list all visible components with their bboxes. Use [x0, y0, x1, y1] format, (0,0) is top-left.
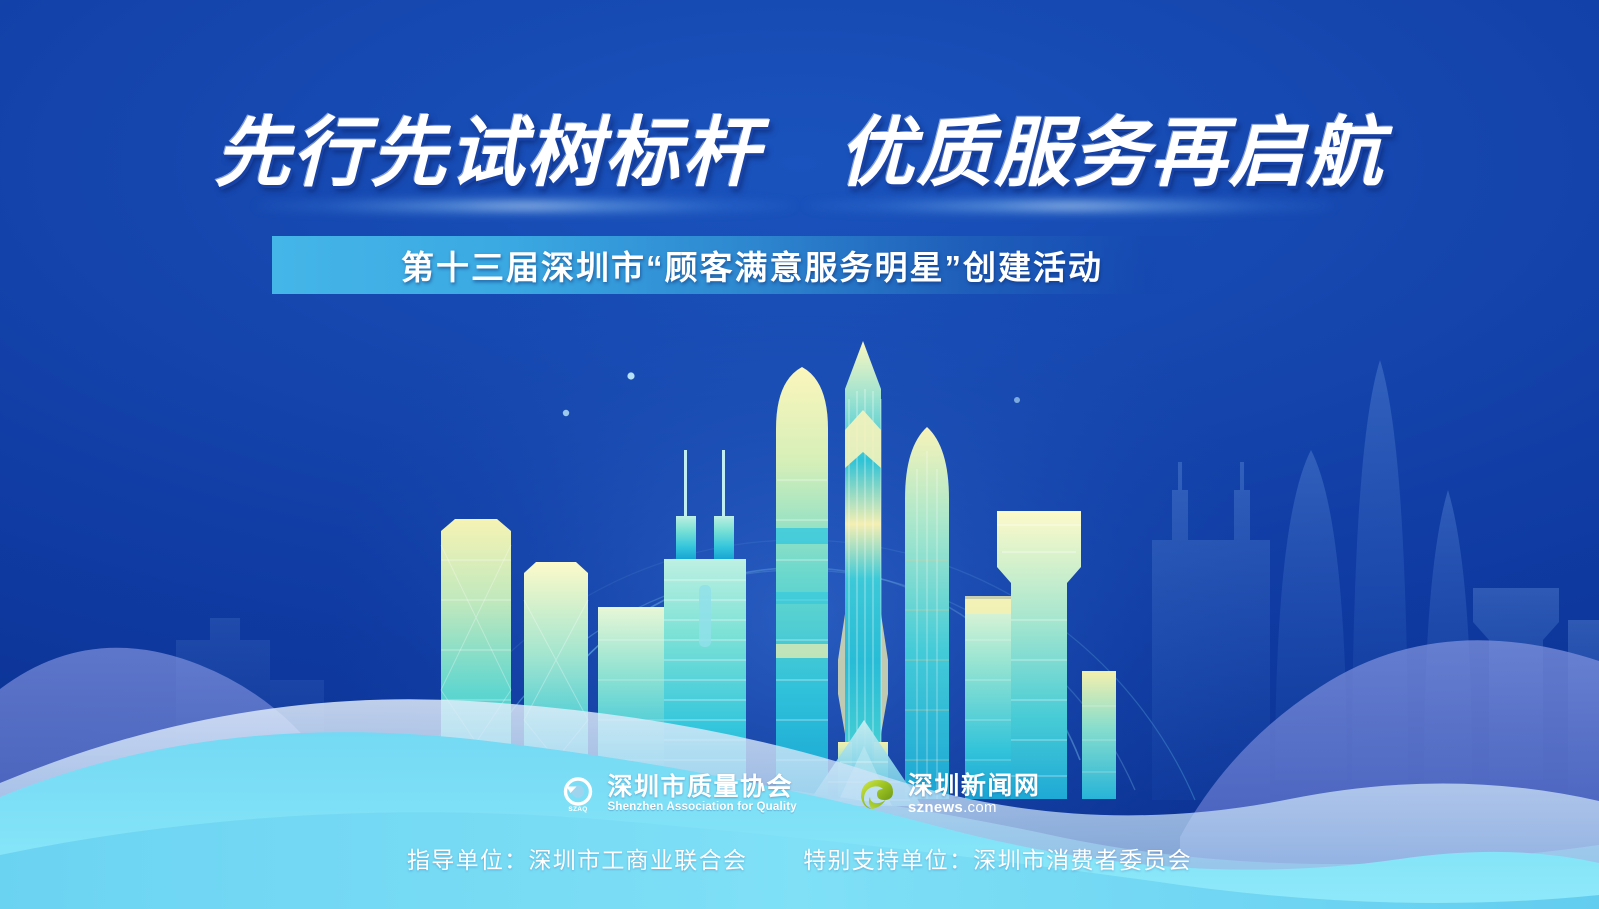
credit-special-support-unit: 特别支持单位：深圳市消费者委员会: [803, 841, 1192, 875]
credits-row: 指导单位：深圳市工商业联合会 特别支持单位：深圳市消费者委员会: [0, 841, 1599, 875]
logo-sznews: 深圳新闻网 sznews.com: [855, 773, 1041, 816]
saq-circle-mark-icon: SZAQ: [559, 774, 599, 814]
saq-name-en: Shenzhen Association for Quality: [608, 801, 797, 814]
credit-guidance-unit: 指导单位：深圳市工商业联合会: [407, 841, 747, 875]
poster-headline: 先行先试树标杆 优质服务再启航: [0, 112, 1599, 196]
saq-abbreviation: SZAQ: [568, 806, 587, 813]
logo-shenzhen-association-for-quality: SZAQ 深圳市质量协会 Shenzhen Association for Qu…: [559, 774, 797, 814]
poster-subtitle: 第十三届深圳市“顾客满意服务明星”创建活动: [272, 236, 1232, 294]
sznews-domain-main: sznews: [908, 799, 963, 816]
sznews-domain: sznews.com: [908, 800, 1041, 816]
sznews-leaf-mark-icon: [855, 773, 899, 815]
headline-glow-streak-left: [255, 198, 795, 214]
saq-name-cn: 深圳市质量协会: [608, 774, 797, 801]
sznews-name-cn: 深圳新闻网: [908, 773, 1041, 800]
sznews-domain-suffix: .com: [963, 799, 997, 816]
partner-logo-row: SZAQ 深圳市质量协会 Shenzhen Association for Qu…: [0, 770, 1599, 818]
sznews-text-column: 深圳新闻网 sznews.com: [908, 773, 1041, 816]
headline-glow-streak-right: [805, 198, 1335, 214]
saq-text-column: 深圳市质量协会 Shenzhen Association for Quality: [608, 774, 797, 814]
poster-canvas: 先行先试树标杆 优质服务再启航 第十三届深圳市“顾客满意服务明星”创建活动: [0, 0, 1599, 909]
